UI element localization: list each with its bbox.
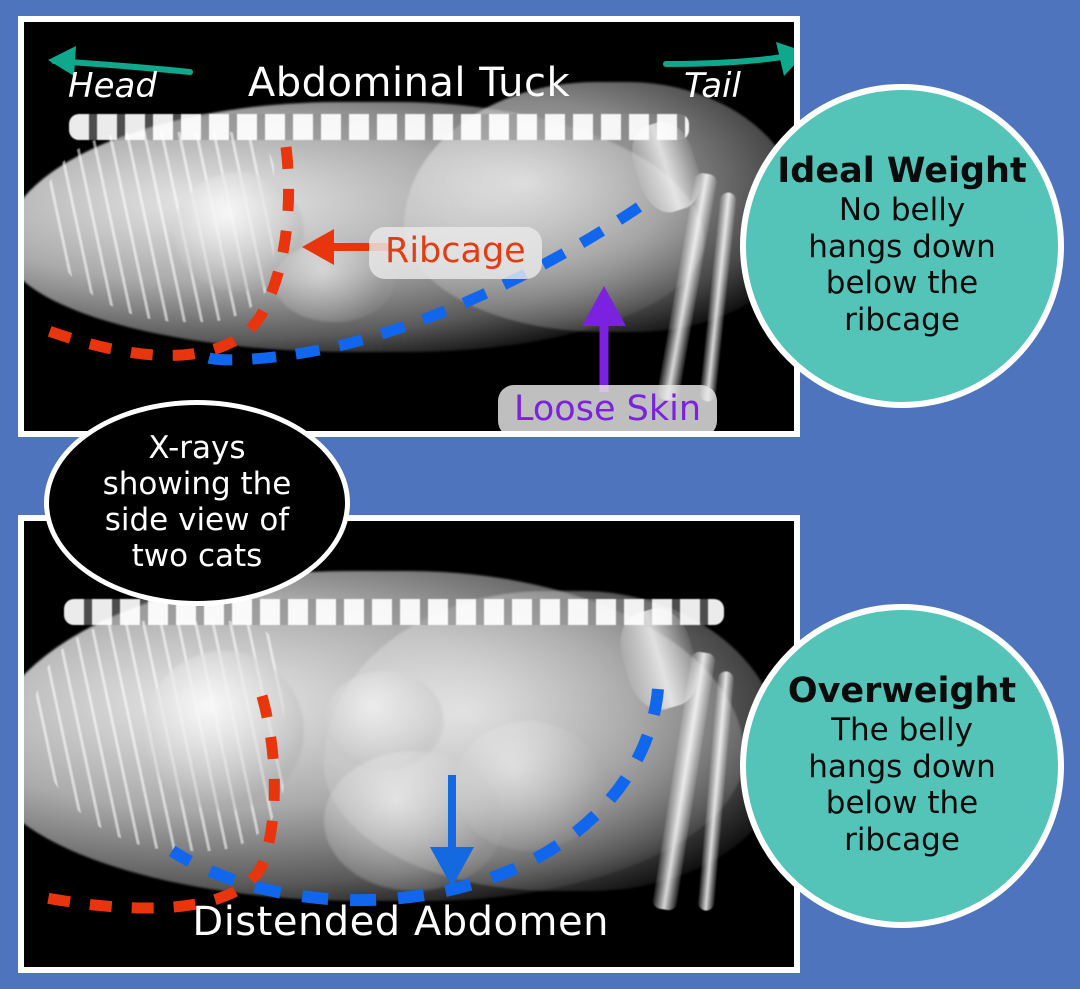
caption-circle-line: side view of: [103, 503, 292, 539]
panel-title-abdominal-tuck: Abdominal Tuck: [248, 60, 570, 106]
caption-circle-line: X-rays: [103, 431, 292, 467]
info-circle-body-line: below the: [808, 265, 996, 302]
direction-label-tail: Tail: [684, 66, 741, 106]
caption-circle-xrays: X-rays showing the side view of two cats: [44, 400, 350, 606]
info-circle-body-line: No belly: [808, 192, 996, 229]
info-circle-body-line: below the: [808, 785, 996, 822]
info-circle-body-line: ribcage: [808, 302, 996, 339]
infographic-stage: Abdominal Tuck Head Tail Ribcage Loose S…: [0, 0, 1080, 989]
info-circle-heading: Overweight: [788, 673, 1016, 710]
info-circle-body-line: hangs down: [808, 749, 996, 786]
annotation-label-ribcage: Ribcage: [369, 227, 542, 279]
arrow-down-icon: [422, 771, 482, 893]
info-circle-body-line: ribcage: [808, 822, 996, 859]
caption-circle-line: two cats: [103, 539, 292, 575]
xray-image-ideal-weight: Abdominal Tuck Head Tail Ribcage Loose S…: [24, 22, 794, 431]
annotation-label-loose-skin: Loose Skin: [498, 385, 717, 431]
direction-label-head: Head: [68, 66, 157, 106]
xray-panel-ideal-weight: Abdominal Tuck Head Tail Ribcage Loose S…: [18, 16, 800, 437]
info-circle-overweight: Overweight The belly hangs down below th…: [740, 604, 1064, 928]
caption-circle-body: X-rays showing the side view of two cats: [103, 431, 292, 575]
info-circle-ideal-weight: Ideal Weight No belly hangs down below t…: [740, 84, 1064, 408]
panel-title-distended-abdomen: Distended Abdomen: [192, 899, 609, 945]
caption-circle-line: showing the: [103, 467, 292, 503]
info-circle-body-line: The belly: [808, 712, 996, 749]
info-circle-heading: Ideal Weight: [777, 153, 1026, 190]
arrow-up-icon: [574, 280, 634, 398]
info-circle-body: The belly hangs down below the ribcage: [808, 712, 996, 858]
info-circle-body: No belly hangs down below the ribcage: [808, 192, 996, 338]
info-circle-body-line: hangs down: [808, 229, 996, 266]
